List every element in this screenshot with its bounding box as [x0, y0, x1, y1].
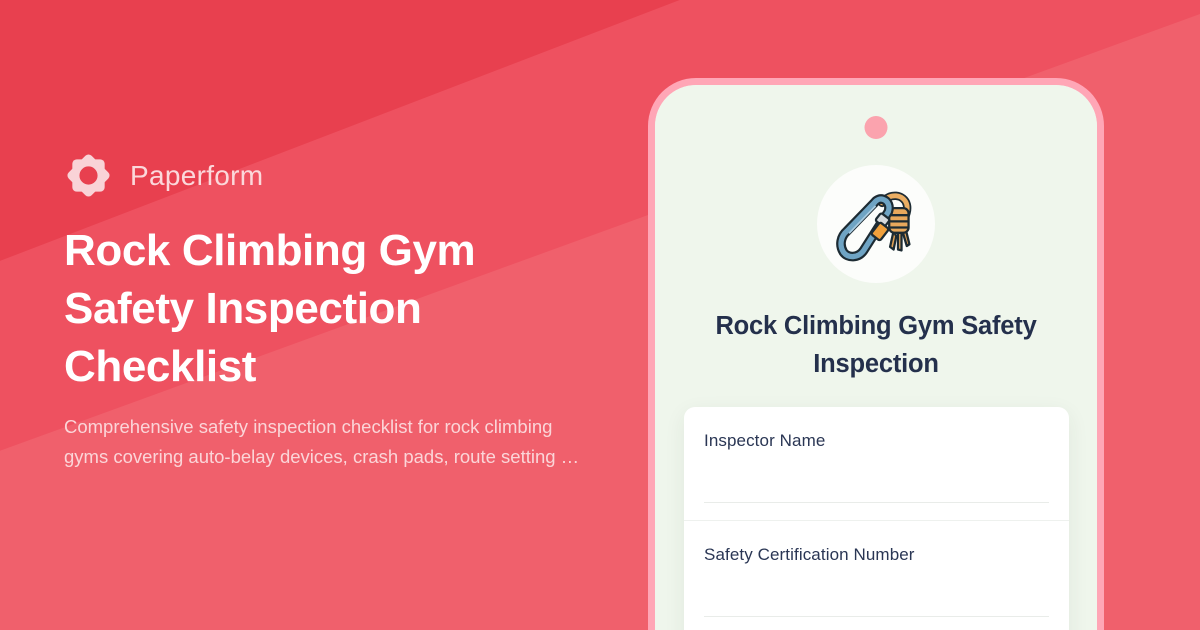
page-title: Rock Climbing Gym Safety Inspection Chec… — [64, 222, 584, 396]
camera-dot-icon — [865, 116, 888, 139]
brand-wordmark: Paperform — [130, 160, 263, 192]
field-label: Safety Certification Number — [704, 545, 1049, 565]
field-underline — [704, 616, 1049, 617]
field-input[interactable] — [704, 467, 1049, 485]
form-field-safety-certification-number[interactable]: Safety Certification Number — [684, 521, 1069, 630]
form-title: Rock Climbing Gym Safety Inspection — [685, 307, 1067, 383]
hero-content: Paperform Rock Climbing Gym Safety Inspe… — [64, 0, 604, 630]
field-input[interactable] — [704, 581, 1049, 599]
form-field-inspector-name[interactable]: Inspector Name — [684, 407, 1069, 521]
page-description: Comprehensive safety inspection checklis… — [64, 412, 584, 472]
paperform-flower-logo-icon — [64, 151, 113, 200]
form-card: Inspector Name Safety Certification Numb… — [684, 407, 1069, 630]
phone-mockup: Rock Climbing Gym Safety Inspection Insp… — [648, 78, 1104, 630]
brand-logo[interactable]: Paperform — [64, 151, 263, 200]
phone-screen: Rock Climbing Gym Safety Inspection Insp… — [655, 85, 1097, 630]
carabiner-rope-icon — [832, 180, 920, 268]
form-logo-avatar — [817, 165, 935, 283]
field-label: Inspector Name — [704, 431, 1049, 451]
field-underline — [704, 502, 1049, 503]
